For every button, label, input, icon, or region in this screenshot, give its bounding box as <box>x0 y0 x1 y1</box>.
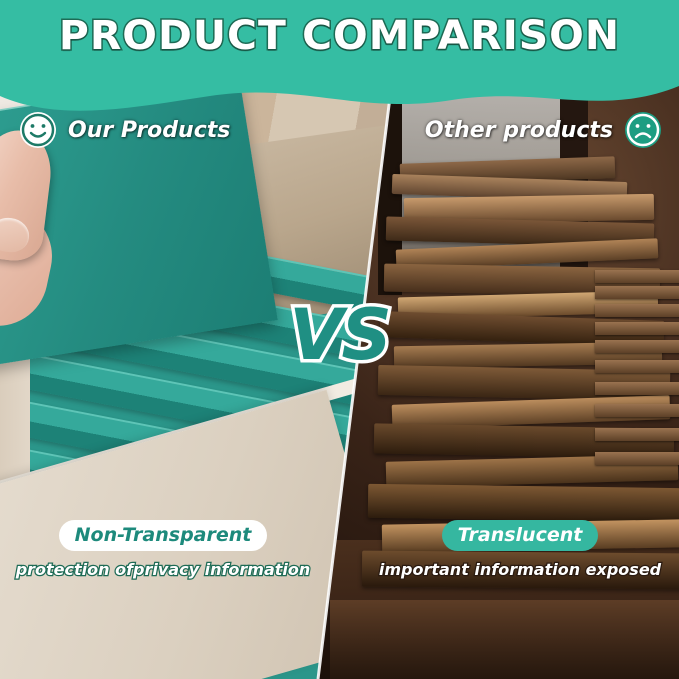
left-side-label-text: Our Products <box>68 118 230 143</box>
left-caption-subtext: protection ofprivacy information <box>8 560 318 579</box>
right-caption-group: Translucent important information expose… <box>365 520 675 579</box>
right-caption-subtext: important information exposed <box>365 560 675 579</box>
left-side-label: Our Products <box>18 110 230 150</box>
left-caption-group: Non-Transparent protection ofprivacy inf… <box>8 520 318 579</box>
right-side-label: Other products <box>425 110 663 150</box>
sad-face-icon <box>623 110 663 150</box>
scattered-papers-foreground <box>330 600 679 679</box>
right-caption-pill: Translucent <box>442 520 599 551</box>
right-side-label-text: Other products <box>425 118 613 143</box>
smiley-face-icon <box>18 110 58 150</box>
vs-badge: VS <box>289 300 390 370</box>
product-comparison-image: PRODUCT COMPARISON Our Products Other pr… <box>0 0 679 679</box>
left-caption-pill: Non-Transparent <box>59 520 268 551</box>
page-title: PRODUCT COMPARISON <box>0 13 679 59</box>
